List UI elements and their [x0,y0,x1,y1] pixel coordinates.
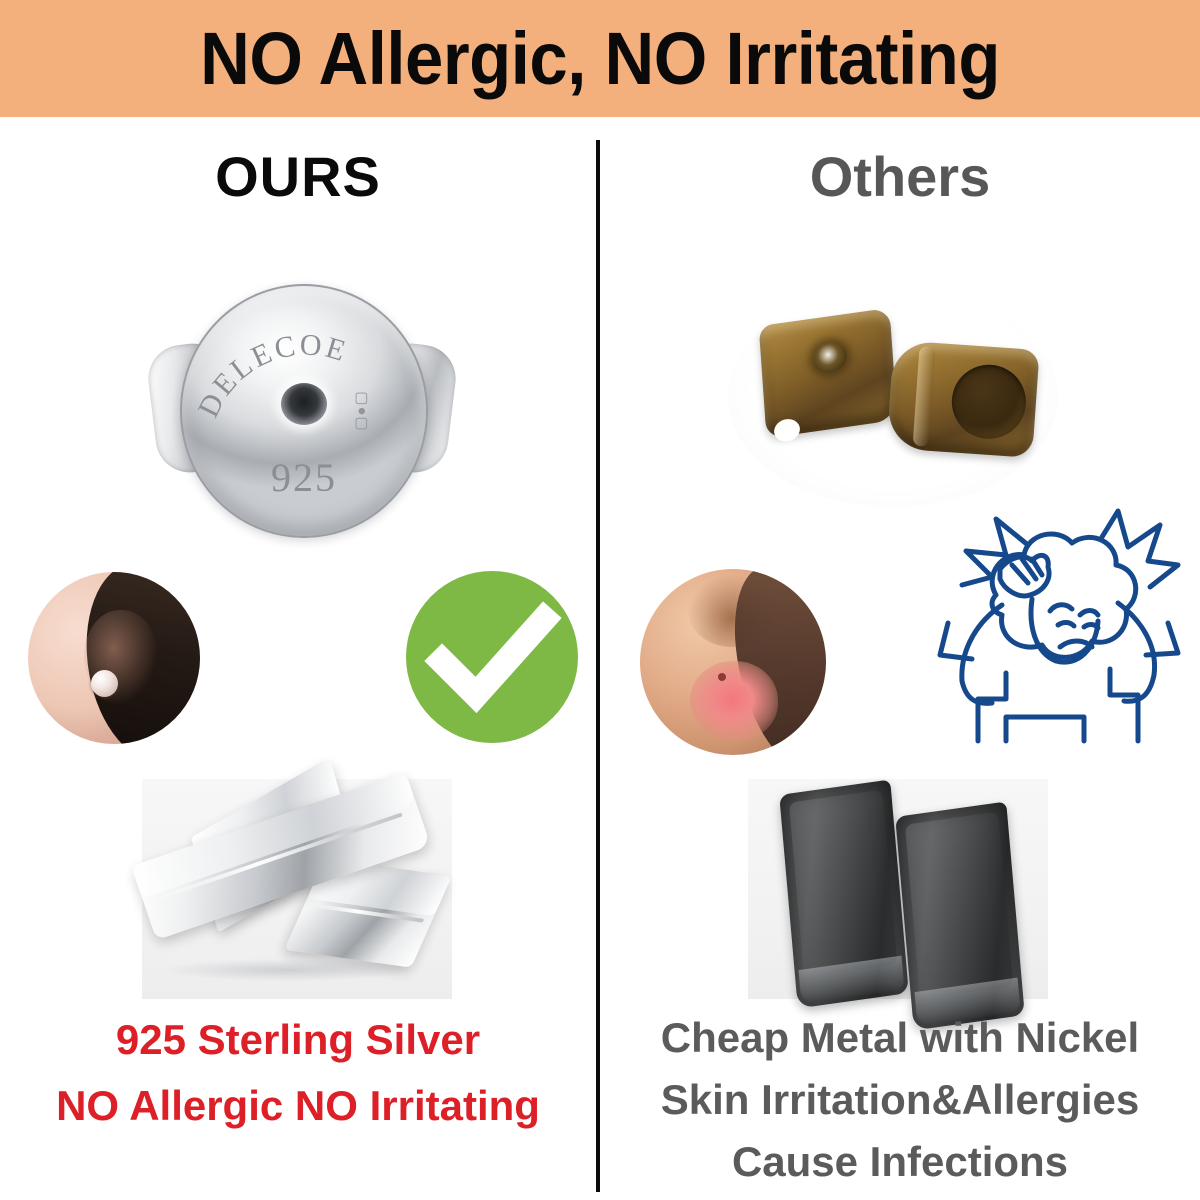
column-heading-others: Others [600,149,1200,205]
pearl-stud-icon [91,670,118,697]
piercing-hole [718,673,726,681]
comparison-area: OURS DELECOE ▢●▢ 925 [0,117,1200,1200]
caption-line: 925 Sterling Silver [0,1007,596,1073]
silver-earring-back-image: DELECOE ▢●▢ 925 [152,282,452,552]
dark-metal-bar-left [779,779,909,1008]
brass-back-hole [812,340,848,375]
brass-earring-back-left [759,308,898,438]
earring-back-disc: DELECOE ▢●▢ 925 [180,284,428,538]
brass-back-ridge [913,346,936,447]
column-ours: OURS DELECOE ▢●▢ 925 [0,117,596,1200]
column-heading-ours: OURS [0,149,596,205]
captions-others: Cheap Metal with Nickel Skin Irritation&… [600,1007,1200,1193]
bar-face [789,789,897,977]
dark-metal-bars-photo [748,779,1048,999]
svg-text:DELECOE: DELECOE [192,328,352,422]
irritated-ear-photo [640,569,826,755]
earring-back-center-hole [281,383,327,425]
healthy-ear-photo [28,572,200,744]
caption-line: Cause Infections [600,1131,1200,1193]
distressed-person-icon [932,503,1184,749]
hallmark-stamp-icon: ▢●▢ [353,391,372,431]
dark-metal-bar-right [895,801,1025,1030]
engraved-brand-text: DELECOE [192,328,352,422]
header-banner: NO Allergic, NO Irritating [0,0,1200,117]
captions-ours: 925 Sterling Silver NO Allergic NO Irrit… [0,1007,596,1139]
brass-back-loop [949,362,1028,441]
engraved-purity-text: 925 [182,454,426,501]
silver-ingot-photo [142,779,452,999]
green-check-icon [404,569,580,745]
brass-earring-backs-image [728,287,1058,507]
column-others: Others [600,117,1200,1200]
page-title: NO Allergic, NO Irritating [200,22,1000,96]
caption-line: Cheap Metal with Nickel [600,1007,1200,1069]
caption-line: Skin Irritation&Allergies [600,1069,1200,1131]
inflamed-redness-area [690,661,778,741]
brass-earring-back-right [886,340,1039,458]
bar-face [905,811,1013,999]
caption-line: NO Allergic NO Irritating [0,1073,596,1139]
